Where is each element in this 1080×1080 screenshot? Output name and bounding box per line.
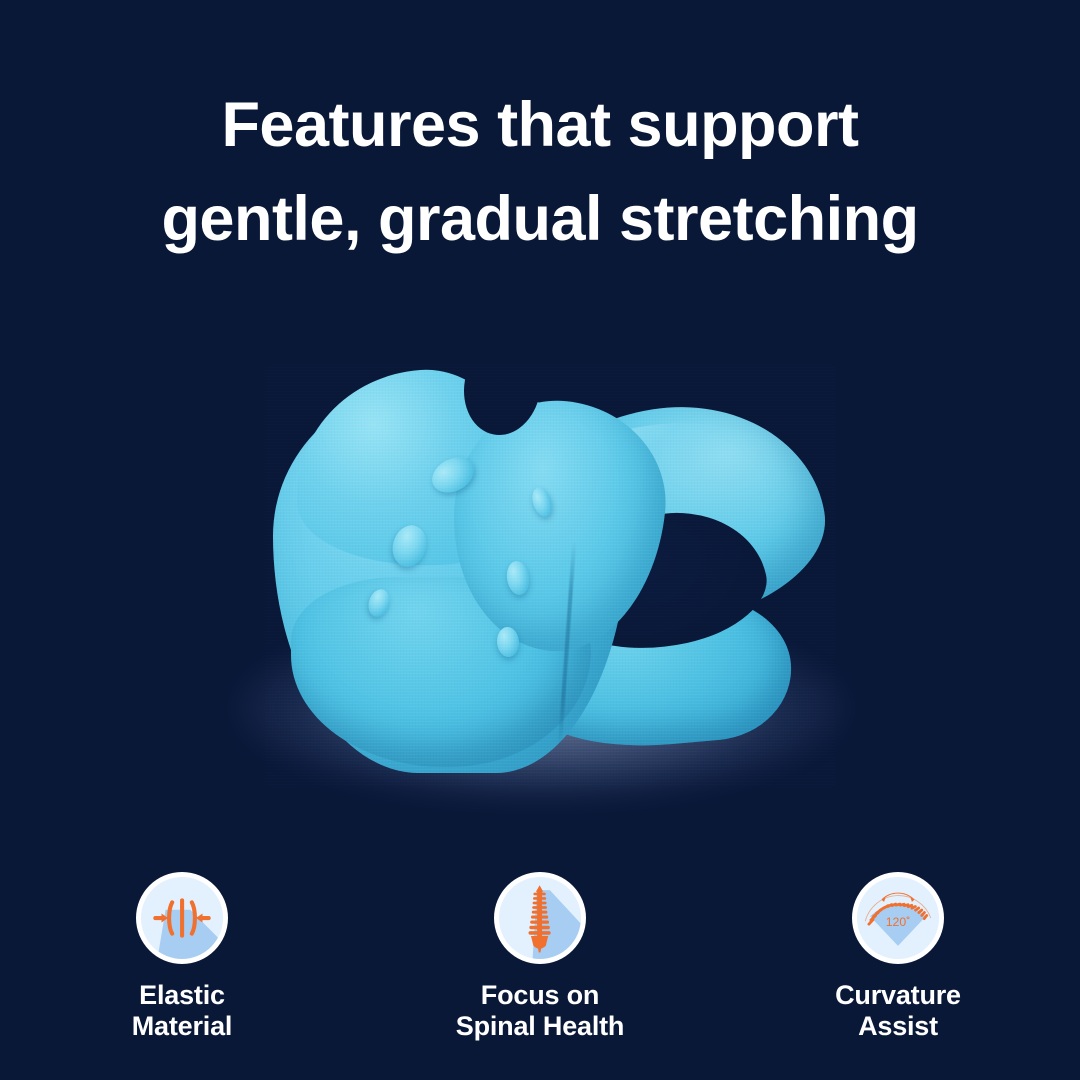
feature-label-curvature-assist: Curvature Assist (835, 980, 961, 1042)
feature-badge-inner (141, 877, 223, 959)
feature-label-spinal-health: Focus on Spinal Health (456, 980, 624, 1042)
neck-traction-pillow-graphic (265, 365, 835, 785)
page-title: Features that support gentle, gradual st… (0, 78, 1080, 266)
elastic-compression-arrows-icon (141, 877, 223, 959)
spine-vertebrae-icon (499, 877, 581, 959)
feature-item-curvature-assist[interactable]: 120˚ Curvature Assist (778, 872, 1018, 1042)
feature-label-elastic-material: Elastic Material (132, 980, 232, 1042)
product-image (0, 345, 1080, 815)
curvature-angle-value: 120˚ (886, 915, 911, 929)
headline-line-1: Features that support (0, 78, 1080, 172)
feature-badge-elastic-material (136, 872, 228, 964)
feature-badge-inner (499, 877, 581, 959)
spine-curvature-angle-icon: 120˚ (857, 877, 939, 959)
headline-line-2: gentle, gradual stretching (0, 172, 1080, 266)
feature-badge-spinal-health (494, 872, 586, 964)
feature-item-spinal-health[interactable]: Focus on Spinal Health (420, 872, 660, 1042)
promo-poster: Features that support gentle, gradual st… (0, 0, 1080, 1080)
feature-badge-inner: 120˚ (857, 877, 939, 959)
feature-list: Elastic Material (0, 872, 1080, 1057)
feature-item-elastic-material[interactable]: Elastic Material (62, 872, 302, 1042)
feature-badge-curvature-assist: 120˚ (852, 872, 944, 964)
